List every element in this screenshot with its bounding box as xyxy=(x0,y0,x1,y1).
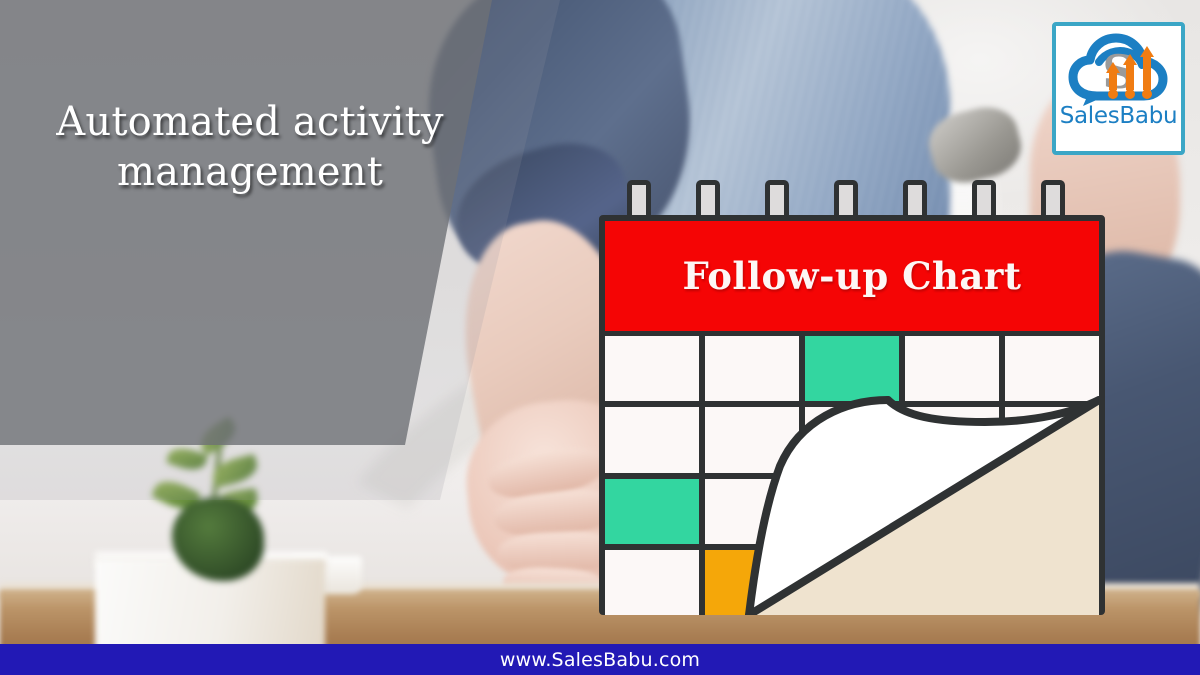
calendar-cell[interactable] xyxy=(605,336,699,401)
calendar-banner: Follow-up Chart xyxy=(605,221,1099,331)
logo-wordmark: SalesBabu xyxy=(1060,103,1178,129)
calendar-cell[interactable] xyxy=(905,479,999,544)
plant-foliage xyxy=(172,497,264,581)
footer-url[interactable]: www.SalesBabu.com xyxy=(500,649,700,671)
headline-line-1: Automated activity xyxy=(56,99,443,145)
calendar-cell-highlight-green[interactable] xyxy=(605,479,699,544)
calendar-cell[interactable] xyxy=(805,407,899,472)
calendar-title: Follow-up Chart xyxy=(683,254,1022,298)
calendar-cell[interactable] xyxy=(705,407,799,472)
page-title: Automated activity management xyxy=(0,98,500,197)
promo-banner: Automated activity management S xyxy=(0,0,1200,675)
calendar-cell[interactable] xyxy=(805,550,899,615)
calendar-cell[interactable] xyxy=(905,336,999,401)
calendar-cell[interactable] xyxy=(905,550,999,615)
calendar-cell[interactable] xyxy=(805,479,899,544)
calendar-cell[interactable] xyxy=(605,407,699,472)
calendar-cell[interactable] xyxy=(705,479,799,544)
calendar-cell[interactable] xyxy=(605,550,699,615)
calendar-cell[interactable] xyxy=(705,336,799,401)
calendar-cell[interactable] xyxy=(1005,550,1099,615)
calendar-cell[interactable] xyxy=(905,407,999,472)
cloud-chart-icon: S xyxy=(1067,32,1171,106)
footer-bar: www.SalesBabu.com xyxy=(0,644,1200,675)
salesbabu-logo[interactable]: S SalesBabu xyxy=(1052,22,1185,155)
calendar-cell[interactable] xyxy=(1005,479,1099,544)
calendar-grid xyxy=(605,336,1099,615)
calendar-body: Follow-up Chart xyxy=(599,215,1105,615)
headline-line-2: management xyxy=(0,148,500,198)
calendar-cell-highlight-orange[interactable] xyxy=(705,550,799,615)
calendar-cell[interactable] xyxy=(1005,407,1099,472)
calendar-cell-highlight-green[interactable] xyxy=(805,336,899,401)
followup-chart-calendar: Follow-up Chart xyxy=(599,180,1105,615)
calendar-cell[interactable] xyxy=(1005,336,1099,401)
